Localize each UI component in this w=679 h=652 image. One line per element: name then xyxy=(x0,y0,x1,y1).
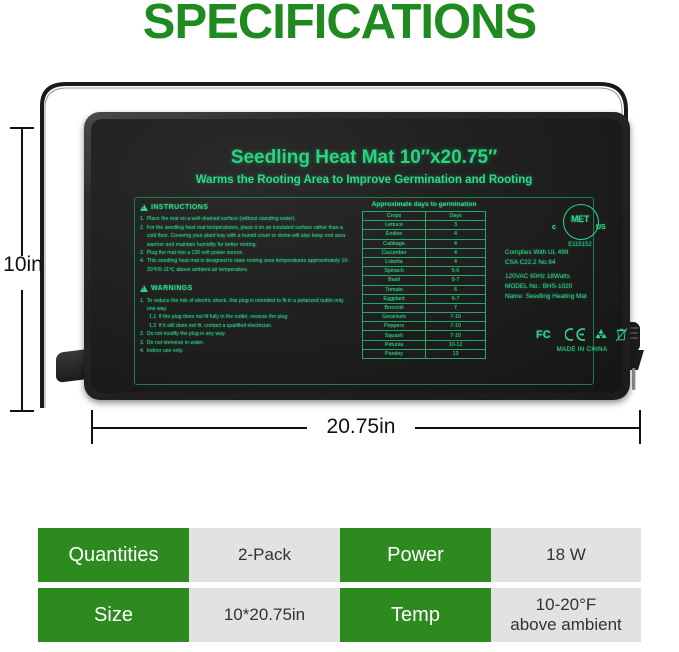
list-item-number: 3. xyxy=(140,249,144,257)
list-item-text: For the seedling heat mat temperatures, … xyxy=(147,224,350,249)
warnings-list: 1.To reduce the risk of electric shock, … xyxy=(140,297,350,356)
table-cell-crop: Squash xyxy=(363,331,426,340)
height-dimension-label: 10in xyxy=(0,253,46,277)
table-cell-crop: Parsley xyxy=(363,349,426,358)
list-item-text: Do not immerse in water. xyxy=(147,339,350,347)
table-row: Lobelia4 xyxy=(363,257,486,266)
table-cell-crop: Peppers xyxy=(363,322,426,331)
table-header-cell: Crops xyxy=(363,212,426,221)
list-item: 4.Indoor use only. xyxy=(140,347,350,355)
table-cell-days: 13 xyxy=(426,349,486,358)
list-item: 2.For the seedling heat mat temperatures… xyxy=(140,224,350,249)
instructions-heading-label: INSTRUCTIONS xyxy=(151,202,208,213)
spec-value-quantities: 2-Pack xyxy=(189,528,340,582)
table-cell-days: 4 xyxy=(426,230,486,239)
list-item-number: 3. xyxy=(140,339,144,347)
instructions-heading: INSTRUCTIONS xyxy=(140,202,350,213)
compliance-line-1: CSA C22.2 No.64 xyxy=(505,258,655,268)
table-row: Cabbage4 xyxy=(363,239,486,248)
electrical-line-1: MODEL No.: BHS-1020 xyxy=(505,282,655,292)
table-cell-days: 4 xyxy=(426,239,486,248)
warning-triangle-icon xyxy=(140,285,148,292)
list-item-number: 4. xyxy=(140,347,144,355)
table-cell-days: 7-10 xyxy=(426,331,486,340)
width-dimension-cap-right xyxy=(639,410,641,444)
table-cell-crop: Broccoli xyxy=(363,303,426,312)
width-dimension-line-right xyxy=(415,427,640,429)
table-row: Lettuce3 xyxy=(363,221,486,230)
table-header-row: CropsDays xyxy=(363,212,486,221)
list-item: 4.This seedling heat mat is designed to … xyxy=(140,257,350,274)
warnings-heading-label: WARNINGS xyxy=(151,283,193,294)
table-cell-crop: Basil xyxy=(363,276,426,285)
electrical-line-2: Name: Seedling Heating Mat xyxy=(505,292,655,302)
list-item: 2.Do not modify the plug in any way. xyxy=(140,330,350,338)
table-header-cell: Days xyxy=(426,212,486,221)
specifications-grid: Quantities 2-Pack Power 18 W Size 10*20.… xyxy=(38,528,641,642)
list-item-text: If the plug does not fit fully in the ou… xyxy=(159,313,350,321)
table-cell-crop: Eggplant xyxy=(363,294,426,303)
table-cell-days: 7-10 xyxy=(426,322,486,331)
spec-value-temp-line: above ambient xyxy=(510,615,622,635)
spec-value-temp: 10-20°Fabove ambient xyxy=(491,588,641,642)
table-cell-crop: Spinach xyxy=(363,267,426,276)
list-item-number: 1.2 xyxy=(149,322,156,330)
warning-triangle-icon xyxy=(140,204,148,211)
table-cell-crop: Petunia xyxy=(363,340,426,349)
met-mark-icon: MET c US xyxy=(543,204,617,244)
svg-text:FC: FC xyxy=(536,329,551,341)
table-cell-days: 6-7 xyxy=(426,294,486,303)
spec-value-size: 10*20.75in xyxy=(189,588,340,642)
compliance-line-0: Complies With UL 499 xyxy=(505,248,655,258)
fcc-icon: FC xyxy=(536,328,558,341)
table-row: Peppers7-10 xyxy=(363,322,486,331)
germination-table: CropsDaysLettuce3Endive4Cabbage4Cucumber… xyxy=(362,211,486,359)
spec-key-quantities: Quantities xyxy=(38,528,189,582)
list-item-number: 1. xyxy=(140,215,144,223)
table-cell-days: 7-10 xyxy=(426,313,486,322)
list-item-text: If it still does not fit, contact a qual… xyxy=(159,322,350,330)
met-label: MET xyxy=(563,214,597,224)
table-cell-days: 6 xyxy=(426,285,486,294)
page-title: SPECIFICATIONS xyxy=(0,0,679,50)
spec-key-temp: Temp xyxy=(340,588,491,642)
width-dimension-line-left xyxy=(92,427,307,429)
germination-table-title: Approximate days to germination xyxy=(357,201,491,208)
list-item: 1.Place the mat on a well-drained surfac… xyxy=(140,215,350,223)
table-cell-days: 7 xyxy=(426,303,486,312)
mat-title: Seedling Heat Mat 10″x20.75″ xyxy=(91,147,637,169)
instructions-warnings-column: INSTRUCTIONS 1.Place the mat on a well-d… xyxy=(140,202,350,356)
list-item-text: This seedling heat mat is designed to ra… xyxy=(147,257,350,274)
list-item-number: 2. xyxy=(140,224,144,249)
table-row: Cucumber4 xyxy=(363,248,486,257)
mat-subtitle: Warms the Rooting Area to Improve Germin… xyxy=(91,174,637,186)
table-cell-days: 10-12 xyxy=(426,340,486,349)
table-cell-crop: Geranium xyxy=(363,313,426,322)
weee-bin-icon xyxy=(615,327,628,342)
table-row: Squash7-10 xyxy=(363,331,486,340)
list-item-text: Place the mat on a well-drained surface … xyxy=(147,215,350,223)
table-cell-days: 5-7 xyxy=(426,276,486,285)
list-item: 1.2If it still does not fit, contact a q… xyxy=(140,322,350,330)
table-row: Geranium7-10 xyxy=(363,313,486,322)
instructions-list: 1.Place the mat on a well-drained surfac… xyxy=(140,215,350,274)
met-mark-right: US xyxy=(596,224,606,231)
table-cell-days: 5-6 xyxy=(426,267,486,276)
table-row: Broccoli7 xyxy=(363,303,486,312)
table-cell-crop: Lobelia xyxy=(363,257,426,266)
seedling-heat-mat: Seedling Heat Mat 10″x20.75″ Warms the R… xyxy=(84,112,630,400)
width-dimension-label: 20.75in xyxy=(300,415,422,439)
list-item: 1.1If the plug does not fit fully in the… xyxy=(140,313,350,321)
list-item-number: 4. xyxy=(140,257,144,274)
height-dimension-line-bottom xyxy=(21,290,23,412)
electrical-line-0: 120VAC 60Hz 18Watts xyxy=(505,272,655,282)
spec-key-power: Power xyxy=(340,528,491,582)
warnings-heading: WARNINGS xyxy=(140,283,350,294)
ce-icon xyxy=(565,328,587,341)
mat-surface: Seedling Heat Mat 10″x20.75″ Warms the R… xyxy=(91,119,623,393)
printed-info-panel: INSTRUCTIONS 1.Place the mat on a well-d… xyxy=(134,197,594,385)
spec-value-temp-line: 10-20°F xyxy=(510,595,622,615)
list-item-text: Do not modify the plug in any way. xyxy=(147,330,350,338)
table-row: Spinach5-6 xyxy=(363,267,486,276)
table-row: Parsley13 xyxy=(363,349,486,358)
height-dimension-cap-bottom xyxy=(10,410,34,412)
list-item: 3.Plug the mat into a 120 volt power sou… xyxy=(140,249,350,257)
origin-label: MADE IN CHINA xyxy=(507,346,657,353)
list-item: 1.To reduce the risk of electric shock, … xyxy=(140,297,350,314)
table-row: Basil5-7 xyxy=(363,276,486,285)
table-cell-days: 4 xyxy=(426,257,486,266)
table-cell-crop: Tomato xyxy=(363,285,426,294)
spec-value-power: 18 W xyxy=(491,528,641,582)
table-row: Eggplant6-7 xyxy=(363,294,486,303)
list-item-text: Plug the mat into a 120 volt power sourc… xyxy=(147,249,350,257)
recycle-icon xyxy=(594,328,608,341)
certification-block: MET c US E115152 Complies With UL 499 CS… xyxy=(505,204,655,302)
table-row: Petunia10-12 xyxy=(363,340,486,349)
spec-key-size: Size xyxy=(38,588,189,642)
table-cell-crop: Lettuce xyxy=(363,221,426,230)
germination-table-wrapper: Approximate days to germination CropsDay… xyxy=(357,201,491,359)
list-item-text: To reduce the risk of electric shock, th… xyxy=(147,297,350,314)
table-row: Endive4 xyxy=(363,230,486,239)
table-cell-crop: Cabbage xyxy=(363,239,426,248)
list-item-number: 1. xyxy=(140,297,144,314)
table-cell-days: 4 xyxy=(426,248,486,257)
table-row: Tomato6 xyxy=(363,285,486,294)
list-item-number: 2. xyxy=(140,330,144,338)
list-item-text: Indoor use only. xyxy=(147,347,350,355)
table-cell-crop: Cucumber xyxy=(363,248,426,257)
compliance-icons-block: FC xyxy=(507,326,657,353)
met-mark-left: c xyxy=(552,224,556,231)
list-item: 3.Do not immerse in water. xyxy=(140,339,350,347)
height-dimension-line-top xyxy=(21,128,23,256)
list-item-number: 1.1 xyxy=(149,313,156,321)
table-cell-crop: Endive xyxy=(363,230,426,239)
table-cell-days: 3 xyxy=(426,221,486,230)
